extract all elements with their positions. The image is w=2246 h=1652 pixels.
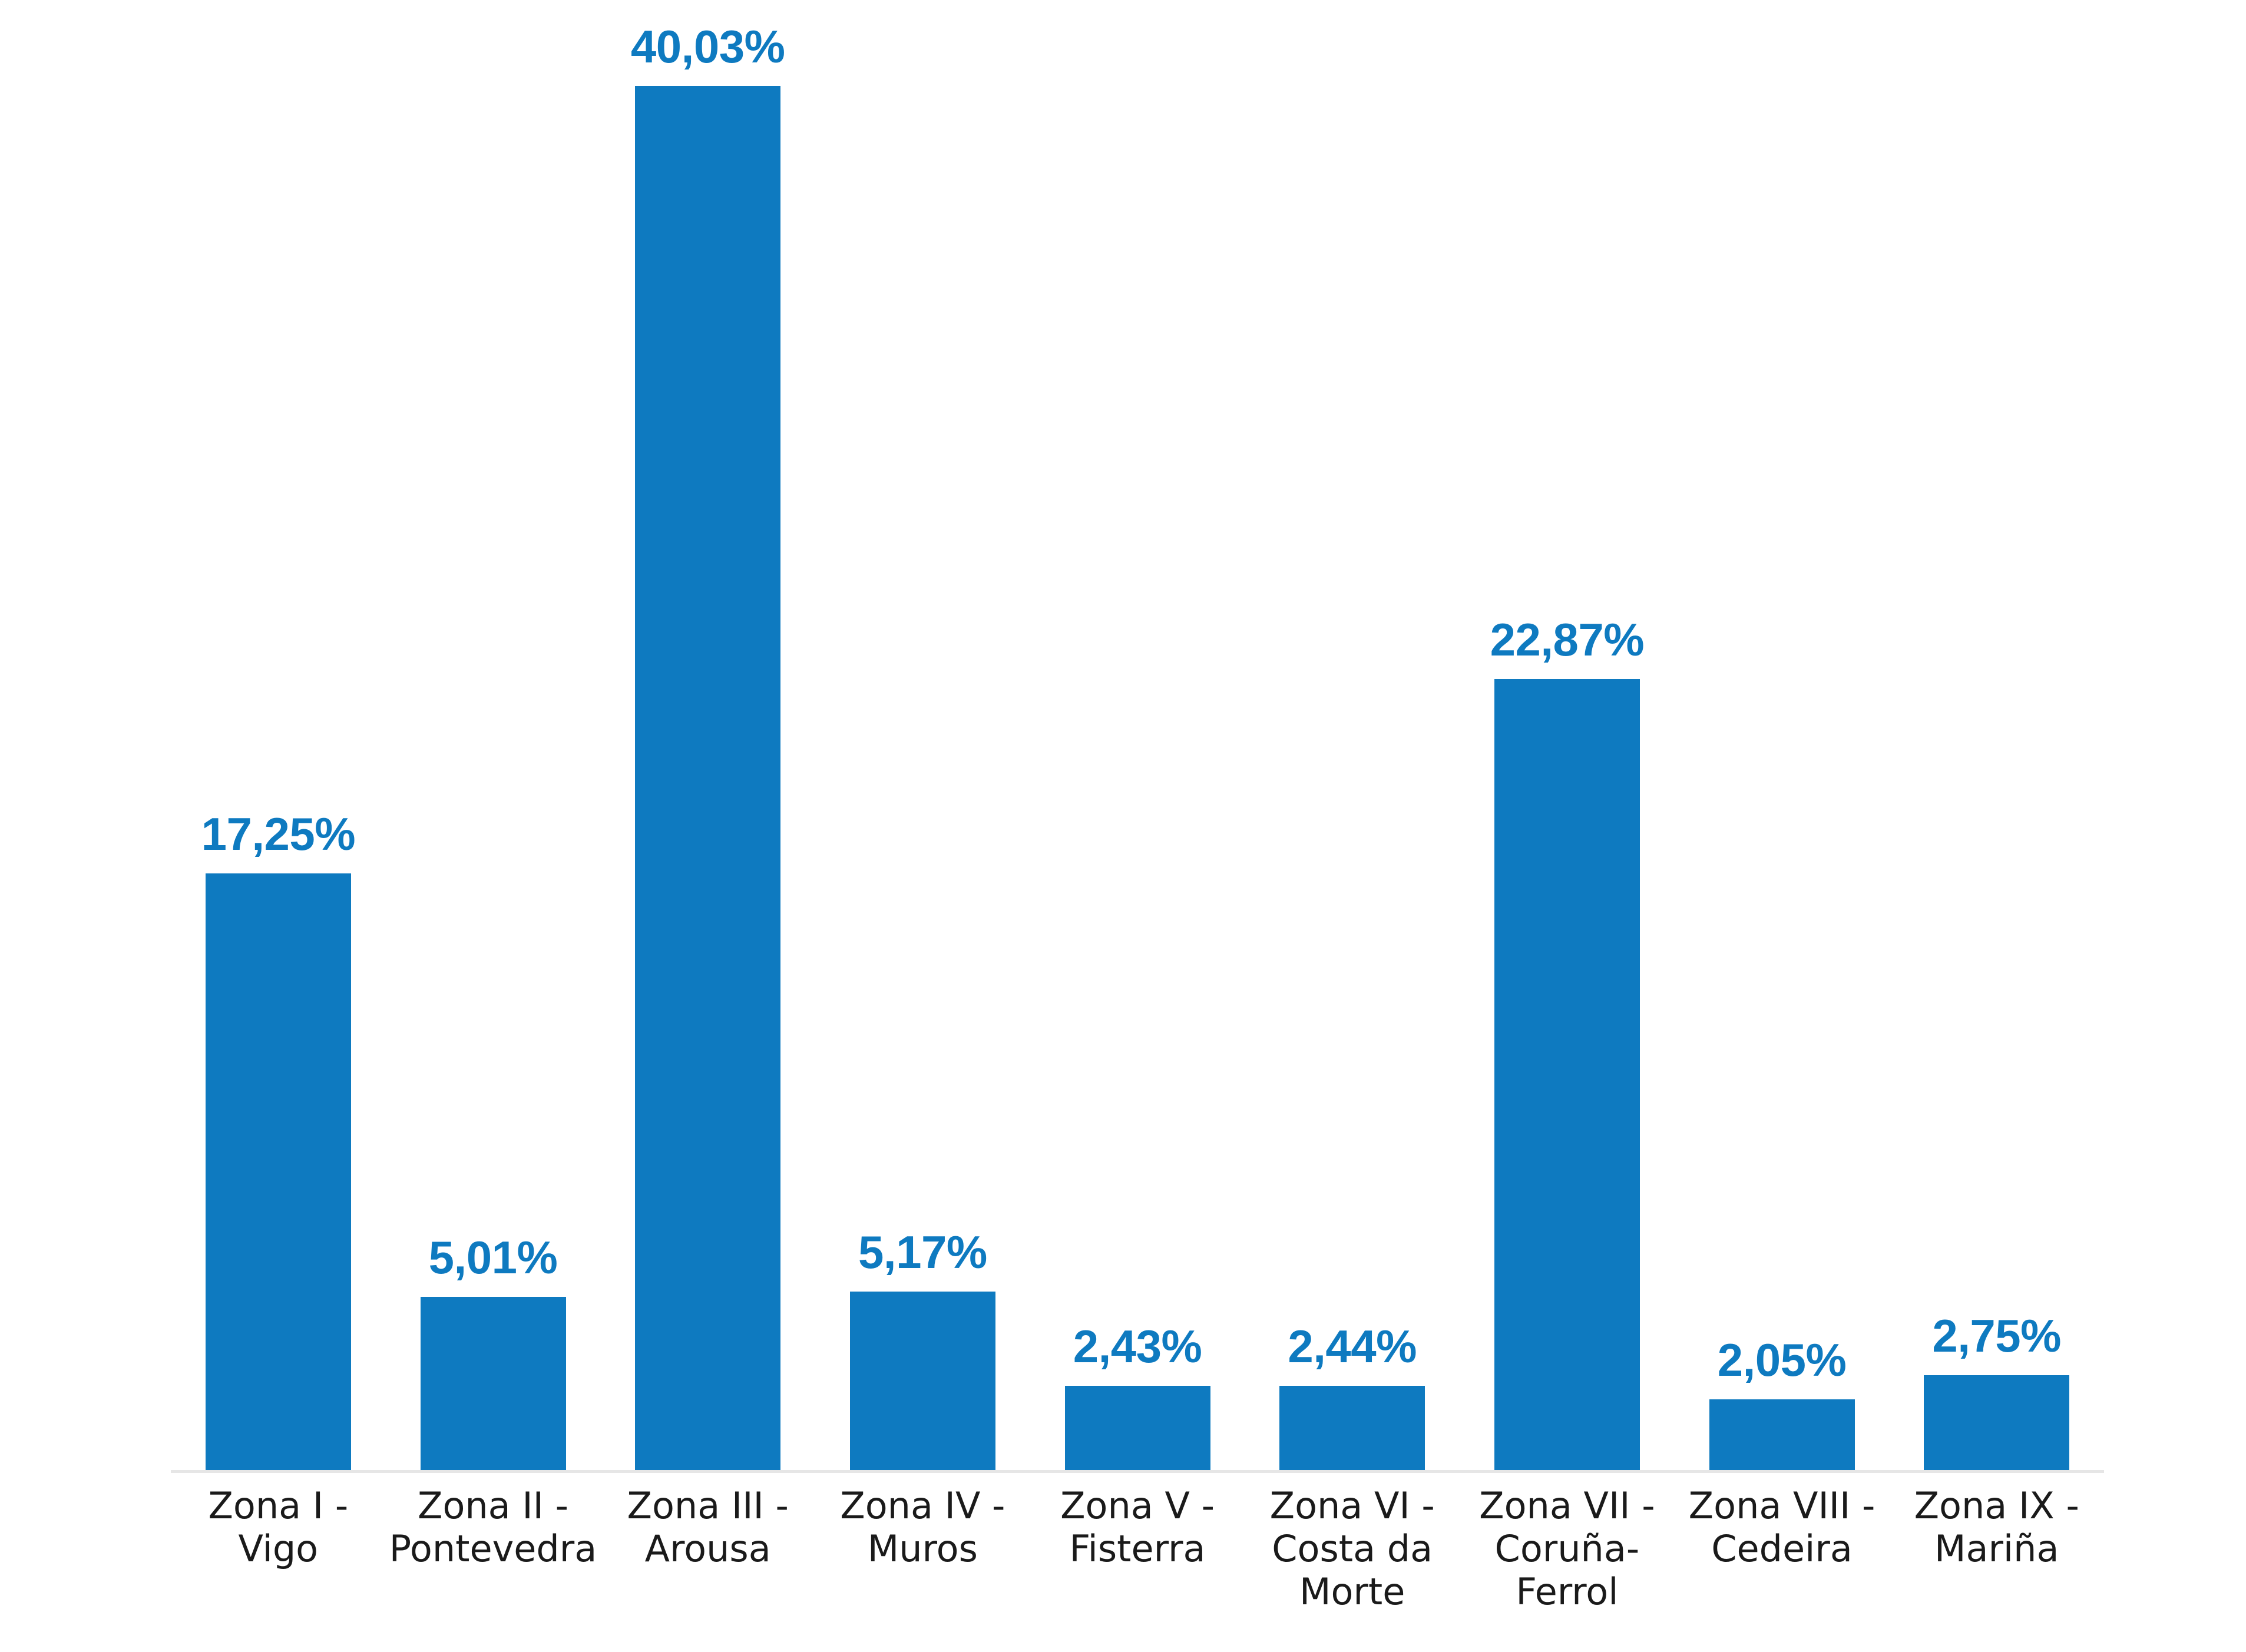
bar-group-zona-iv[interactable]: 5,17%: [815, 24, 1030, 1470]
bar-value-label: 2,75%: [1932, 1313, 2061, 1359]
bar-value-label: 5,17%: [858, 1229, 987, 1275]
bar-group-zona-vii[interactable]: 22,87%: [1460, 24, 1675, 1470]
bar-rect[interactable]: [206, 873, 351, 1470]
bar-group-zona-ii[interactable]: 5,01%: [386, 24, 601, 1470]
bar-value-label: 5,01%: [429, 1234, 558, 1280]
bar-rect[interactable]: [421, 1297, 566, 1470]
bar-value-label: 40,03%: [631, 24, 785, 69]
bars-container: 17,25% 5,01% 40,03% 5,17% 2,43% 2,44% 22…: [171, 24, 2104, 1470]
bar-value-label: 22,87%: [1490, 617, 1645, 663]
bar-group-zona-ix[interactable]: 2,75%: [1889, 24, 2104, 1470]
bar-chart: 17,25% 5,01% 40,03% 5,17% 2,43% 2,44% 22…: [0, 0, 2246, 1652]
bar-value-label: 17,25%: [201, 811, 356, 857]
bar-rect[interactable]: [1279, 1386, 1425, 1470]
x-tick-label-zona-v: Zona V - Fisterra: [1030, 1484, 1245, 1613]
x-tick-label-zona-iv: Zona IV - Muros: [815, 1484, 1030, 1613]
bar-rect[interactable]: [1065, 1386, 1210, 1470]
x-tick-label-zona-viii: Zona VIII - Cedeira: [1675, 1484, 1890, 1613]
bar-group-zona-iii[interactable]: 40,03%: [600, 24, 815, 1470]
x-tick-label-zona-vi: Zona VI - Costa da Morte: [1245, 1484, 1460, 1613]
bar-value-label: 2,44%: [1288, 1323, 1417, 1369]
bar-rect[interactable]: [1709, 1399, 1855, 1470]
x-tick-label-zona-ix: Zona IX - Mariña: [1889, 1484, 2104, 1613]
bar-group-zona-viii[interactable]: 2,05%: [1675, 24, 1890, 1470]
bar-group-zona-i[interactable]: 17,25%: [171, 24, 386, 1470]
bar-value-label: 2,05%: [1718, 1337, 1847, 1383]
x-tick-label-zona-i: Zona I - Vigo: [171, 1484, 386, 1613]
bar-rect[interactable]: [1494, 679, 1640, 1470]
x-tick-label-zona-ii: Zona II - Pontevedra: [386, 1484, 601, 1613]
bar-rect[interactable]: [1924, 1375, 2069, 1470]
bar-rect[interactable]: [635, 86, 780, 1470]
x-tick-label-zona-iii: Zona III - Arousa: [600, 1484, 815, 1613]
x-axis-baseline: [171, 1470, 2104, 1473]
bar-group-zona-v[interactable]: 2,43%: [1030, 24, 1245, 1470]
bar-group-zona-vi[interactable]: 2,44%: [1245, 24, 1460, 1470]
x-axis-tick-labels: Zona I - Vigo Zona II - Pontevedra Zona …: [171, 1484, 2104, 1613]
x-tick-label-zona-vii: Zona VII - Coruña-Ferrol: [1460, 1484, 1675, 1613]
bar-value-label: 2,43%: [1073, 1323, 1202, 1369]
bar-rect[interactable]: [850, 1292, 995, 1471]
